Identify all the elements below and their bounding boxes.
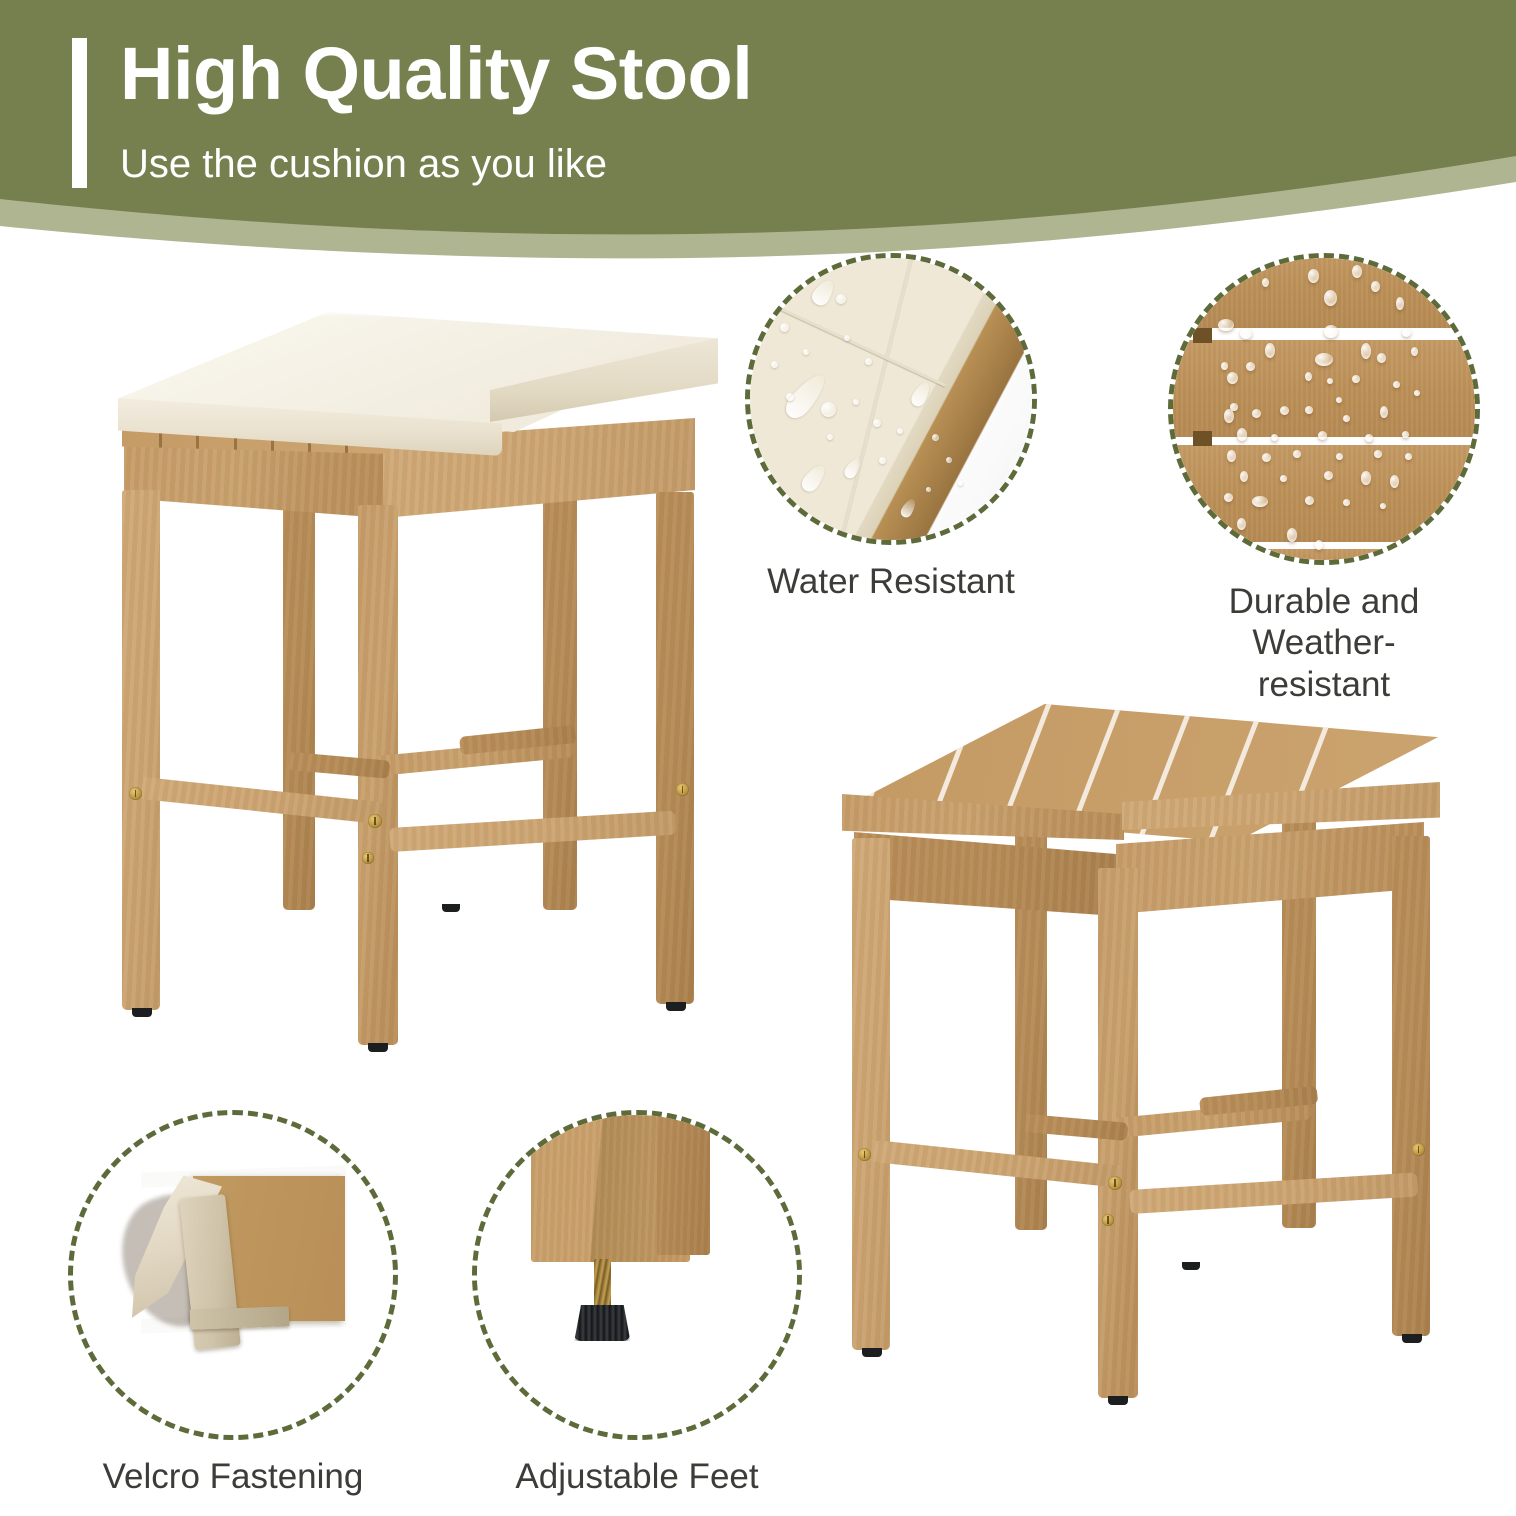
stool-leg-back-right [543, 470, 577, 910]
slat-joint-shadow [1193, 431, 1212, 447]
wood-slat [1168, 549, 1480, 565]
brace-screw [858, 1148, 871, 1161]
water-droplet [1262, 453, 1271, 462]
wood-slat [1168, 253, 1480, 328]
wood-slats-droplets-photo [1168, 253, 1480, 565]
feature-label-durable-weather-resistant: Durable and Weather- resistant [1168, 581, 1480, 705]
brace-screw [1102, 1214, 1114, 1226]
feature-label-water-resistant: Water Resistant [745, 561, 1037, 602]
adjustable-foot-pad [1402, 1334, 1422, 1343]
stool-brace-right-front [389, 811, 676, 852]
header-banner: High Quality Stool Use the cushion as yo… [0, 0, 1516, 270]
feature-water-resistant: Water Resistant [745, 253, 1037, 602]
water-droplet-fabric-photo [745, 253, 1037, 545]
stool-without-cushion [830, 690, 1450, 1430]
water-droplet [1240, 471, 1248, 482]
threaded-screw [594, 1259, 611, 1312]
stool-brace-right-front [1129, 1172, 1418, 1214]
adjustable-foot-photo [472, 1110, 802, 1440]
water-droplet [926, 487, 931, 492]
feature-velcro-fastening: Velcro Fastening [68, 1110, 398, 1497]
velcro-photo-content [68, 1110, 398, 1440]
black-adjustable-foot-cap [574, 1305, 630, 1341]
water-droplet [1262, 278, 1269, 287]
water-droplet [1393, 381, 1400, 388]
water-droplet [958, 481, 963, 486]
brace-screw [1412, 1143, 1425, 1156]
feature-label-adjustable-feet: Adjustable Feet [472, 1456, 802, 1497]
water-droplet [1227, 450, 1236, 462]
water-droplet [844, 335, 850, 341]
slat-joint-shadow [1193, 328, 1212, 344]
water-droplet [1405, 453, 1412, 460]
water-droplet [821, 402, 836, 417]
water-droplet [1371, 281, 1380, 292]
page-title: High Quality Stool [120, 34, 752, 114]
water-droplet [1352, 375, 1360, 383]
water-droplet [1237, 518, 1246, 530]
stool-leg-front-left [122, 490, 160, 1010]
fabric-photo-content [745, 253, 1037, 545]
water-droplet [1237, 428, 1247, 441]
velcro-strap-tail [190, 1306, 290, 1329]
stool-brace-left-front [141, 777, 384, 824]
water-droplet [1380, 503, 1386, 509]
adjustable-foot-pad [132, 1008, 152, 1017]
velcro-strap-photo [68, 1110, 398, 1440]
water-droplet [932, 434, 939, 441]
stool-leg-back-left [283, 480, 315, 910]
stool-with-cushion [100, 300, 720, 1060]
water-droplet [1396, 297, 1404, 310]
water-droplet [1265, 343, 1275, 358]
page-subtitle: Use the cushion as you like [120, 140, 607, 188]
brace-screw [368, 814, 382, 828]
water-droplet [1305, 372, 1312, 381]
water-droplet [786, 393, 794, 401]
water-droplet [897, 428, 903, 434]
brace-screw [676, 783, 689, 796]
feature-label-velcro-fastening: Velcro Fastening [68, 1456, 398, 1497]
water-droplet [1315, 540, 1323, 550]
water-droplet [827, 434, 833, 440]
feature-adjustable-feet: Adjustable Feet [472, 1110, 802, 1497]
feature-label-line1: Durable and Weather- [1229, 582, 1420, 662]
water-droplet [1315, 353, 1333, 366]
water-droplet [853, 399, 859, 405]
stool-leg-front-right [656, 492, 694, 1004]
stool-leg-front-right [1392, 836, 1430, 1336]
water-droplet [865, 358, 872, 365]
adjustable-foot-photo-content [472, 1110, 802, 1440]
water-droplet [1280, 475, 1287, 482]
water-droplet [1240, 328, 1252, 339]
water-droplet [1324, 325, 1338, 338]
water-droplet [1218, 319, 1234, 331]
wood-slats-photo-content [1168, 253, 1480, 565]
water-droplet [1390, 475, 1399, 488]
adjustable-foot-pad [368, 1043, 388, 1052]
adjustable-foot-pad [862, 1348, 882, 1357]
adjustable-foot-pad [1182, 1262, 1200, 1270]
water-droplet [1271, 434, 1278, 441]
water-droplet [836, 294, 846, 304]
title-accent-bar [72, 38, 87, 188]
brace-screw [362, 852, 374, 864]
water-droplet [1293, 450, 1301, 458]
water-droplet [1318, 431, 1327, 440]
water-droplet [1402, 328, 1411, 337]
water-droplet [1402, 431, 1409, 438]
water-droplet [1227, 372, 1238, 384]
adjustable-foot-pad [1108, 1396, 1128, 1405]
stool-leg-front-left [852, 838, 890, 1350]
water-droplet [1365, 434, 1373, 442]
brace-screw [129, 787, 142, 800]
wood-slat [1168, 445, 1480, 542]
water-droplet [1327, 378, 1333, 384]
wooden-leg-side-face [657, 1110, 710, 1255]
brace-screw [1108, 1176, 1122, 1190]
water-droplet [1377, 353, 1386, 363]
stool-apron-left [854, 832, 1116, 916]
slat-joint-shadow [1193, 534, 1212, 550]
water-droplet [1287, 528, 1297, 542]
water-droplet [1343, 415, 1350, 422]
adjustable-foot-pad [666, 1002, 686, 1011]
stool-brace-left-front [873, 1140, 1120, 1188]
water-droplet [1374, 450, 1382, 458]
adjustable-foot-pad [442, 904, 460, 912]
feature-durable-weather-resistant: Durable and Weather- resistant [1168, 253, 1480, 705]
